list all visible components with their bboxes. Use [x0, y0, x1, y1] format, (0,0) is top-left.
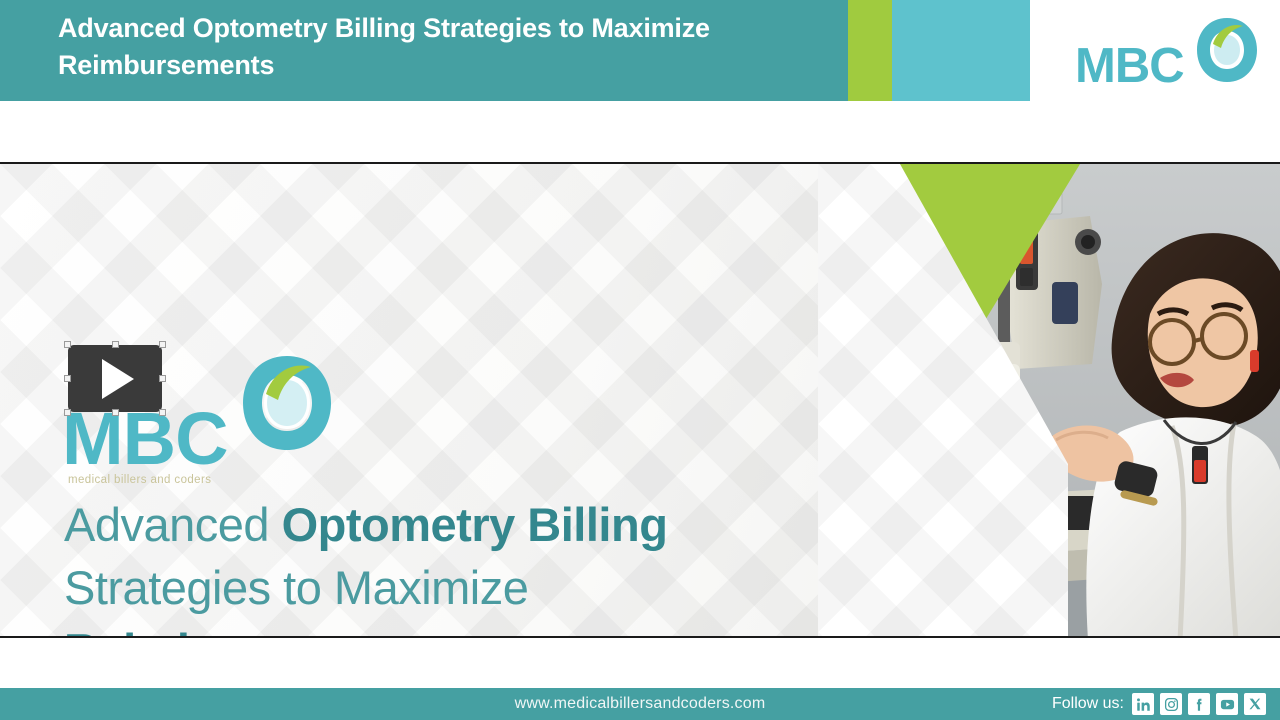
header-green-stripe — [848, 0, 892, 101]
resize-handle-bottom-center[interactable] — [112, 409, 119, 416]
resize-handle-middle-left[interactable] — [64, 375, 71, 382]
resize-handle-top-right[interactable] — [159, 341, 166, 348]
page-title: Advanced Optometry Billing Strategies to… — [58, 10, 838, 85]
headline-line-1-light: Advanced — [64, 498, 282, 551]
resize-handle-top-left[interactable] — [64, 341, 71, 348]
follow-us-group: Follow us: — [1052, 688, 1266, 720]
video-play-button[interactable] — [68, 345, 162, 412]
slide-canvas[interactable]: MBC medical billers and coders — [0, 162, 1280, 638]
youtube-icon[interactable] — [1216, 693, 1238, 715]
mbc-eye-mark-icon — [234, 350, 340, 456]
resize-handle-middle-right[interactable] — [159, 375, 166, 382]
page-header: Advanced Optometry Billing Strategies to… — [0, 0, 1280, 101]
header-mbc-logo: MBC — [1075, 14, 1255, 90]
play-icon — [102, 359, 134, 399]
headline-line-1: Advanced Optometry Billing — [64, 494, 824, 557]
play-button-box[interactable] — [68, 345, 162, 412]
slide-page: Advanced Optometry Billing Strategies to… — [0, 0, 1280, 720]
instagram-icon[interactable] — [1160, 693, 1182, 715]
headline-line-1-bold: Optometry Billing — [282, 498, 668, 551]
linkedin-icon[interactable] — [1132, 693, 1154, 715]
page-footer: www.medicalbillersandcoders.com Follow u… — [0, 688, 1280, 720]
resize-handle-top-center[interactable] — [112, 341, 119, 348]
resize-handle-bottom-left[interactable] — [64, 409, 71, 416]
mbc-eye-mark-icon — [1191, 14, 1263, 86]
x-twitter-icon[interactable] — [1244, 693, 1266, 715]
follow-us-label: Follow us: — [1052, 695, 1124, 713]
slide-headline: Advanced Optometry Billing Strategies to… — [64, 494, 824, 638]
header-teal-block — [892, 0, 1030, 101]
headline-line-3: Reimbursements — [64, 620, 824, 638]
mbc-wordmark: MBC — [1075, 38, 1184, 94]
mbc-tagline: medical billers and coders — [68, 474, 211, 486]
headline-line-2: Strategies to Maximize — [64, 557, 824, 620]
facebook-icon[interactable] — [1188, 693, 1210, 715]
resize-handle-bottom-right[interactable] — [159, 409, 166, 416]
